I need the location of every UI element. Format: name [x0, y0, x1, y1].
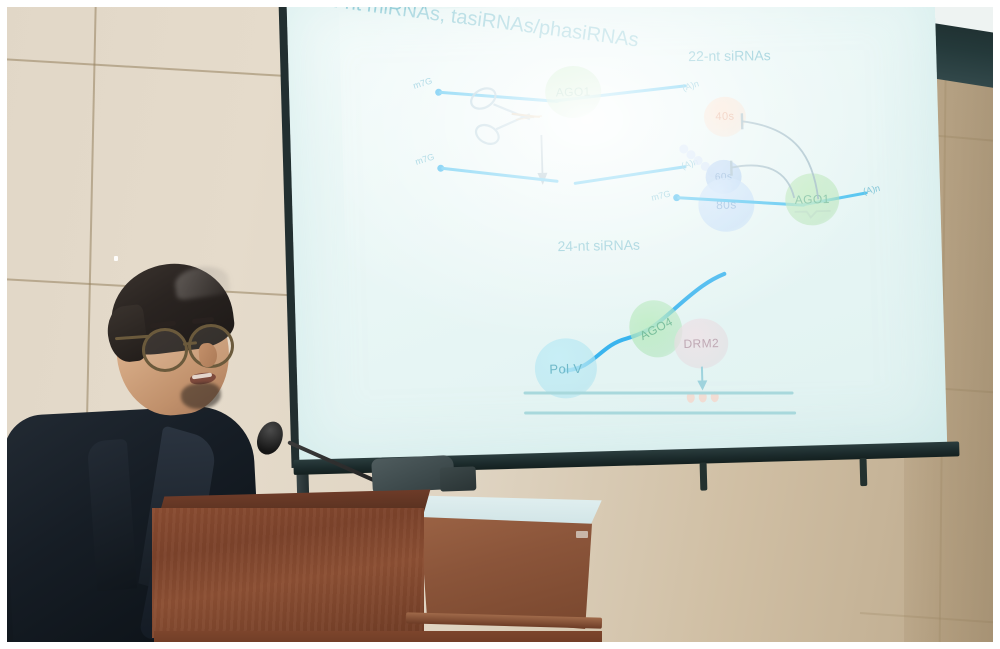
cap-label-m7g: m7G [412, 76, 434, 91]
slide-title: and their actions in plants [514, 0, 806, 7]
podium-front-left [152, 508, 424, 638]
presentation-photo: and their actions in plants 21-nt miRNAs… [0, 0, 1000, 649]
polv-label: Pol V [549, 360, 582, 376]
slide-subtitle: 21-nt miRNAs, tasiRNAs/phasiRNAs [315, 0, 640, 52]
screen-clip [860, 458, 868, 486]
glasses-lens [142, 328, 188, 372]
drm2-label: DRM2 [683, 336, 719, 351]
dna-strand [524, 392, 794, 395]
polya-label: (A)n [862, 183, 881, 197]
ago4-label: AGO4 [637, 315, 674, 344]
panel-label-22nt: 22-nt siRNAs [688, 47, 771, 64]
cap-label-m7g: m7G [650, 188, 671, 202]
projection-screen: and their actions in plants 21-nt miRNAs… [286, 0, 952, 502]
slide-content: and their actions in plants 21-nt miRNAs… [286, 0, 947, 464]
down-arrow-icon [695, 366, 710, 392]
ago1-label: AGO1 [556, 85, 591, 100]
sirna-duplex-icon [793, 207, 833, 222]
presenter-laptop-base [440, 466, 477, 491]
polv-node: Pol V [534, 337, 598, 399]
inhibition-arrow-icon [721, 154, 800, 204]
wooden-podium [152, 489, 600, 649]
mrna-fragment-3p [574, 165, 687, 185]
podium-hinge [576, 531, 588, 538]
screen-surface: and their actions in plants 21-nt miRNAs… [286, 0, 947, 464]
panel-label-24nt: 24-nt siRNAs [557, 237, 640, 255]
podium-front-right [420, 517, 592, 629]
dna-strand [524, 412, 796, 415]
screen-clip [700, 462, 708, 490]
cap-label-m7g: m7G [414, 151, 436, 166]
polya-label: (A)n [681, 78, 700, 93]
